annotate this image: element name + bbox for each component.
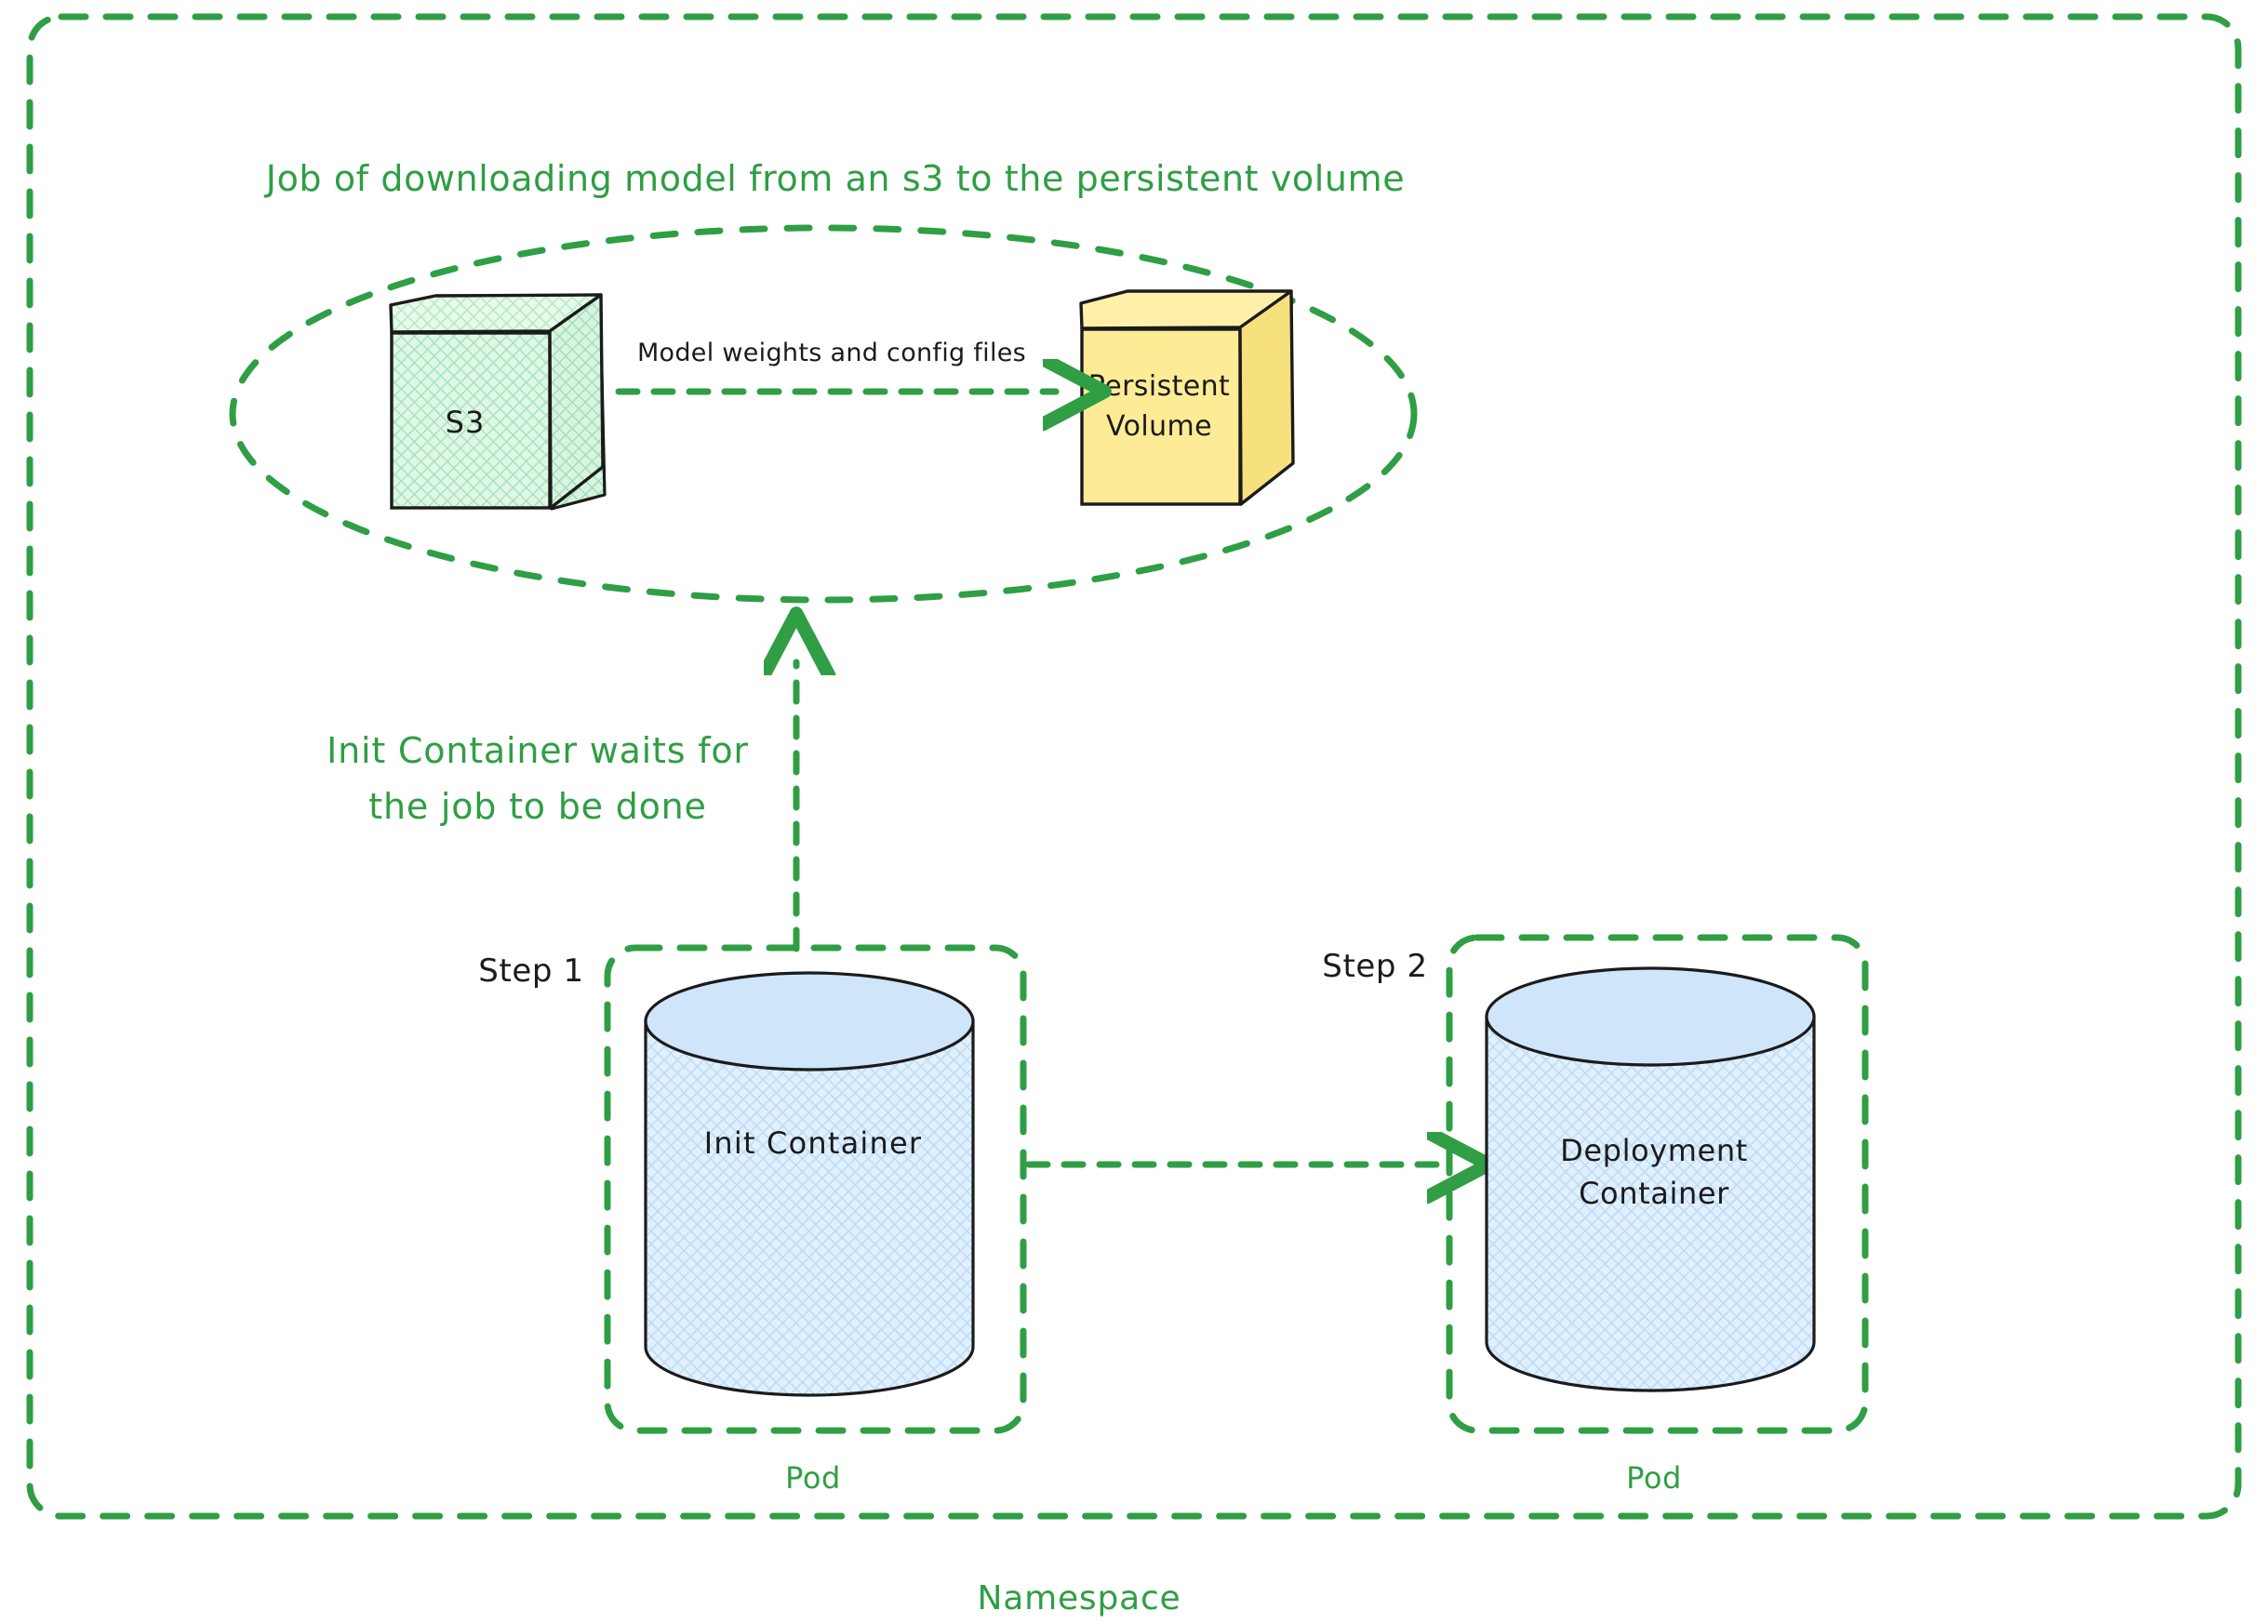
- init-container-label: Init Container: [704, 1125, 923, 1161]
- persistent-volume-label-line1: Persistent: [1088, 370, 1230, 403]
- pod-2-label: Pod: [1626, 1460, 1682, 1496]
- persistent-volume-cube: Persistent Volume: [1081, 291, 1293, 504]
- pod-step-2: Step 2 Deployment Container Pod: [1322, 938, 1865, 1496]
- init-container-cylinder: Init Container: [646, 973, 973, 1395]
- deployment-container-label-line1: Deployment: [1560, 1133, 1748, 1168]
- namespace-label: Namespace: [977, 1579, 1181, 1617]
- pod-step-1: Step 1 Init Container Pod: [478, 948, 1023, 1496]
- init-wait-note-line1: Init Container waits for: [327, 730, 749, 771]
- init-wait-note-line2: the job to be done: [368, 786, 707, 827]
- deployment-container-label-line2: Container: [1579, 1176, 1729, 1211]
- diagram-canvas: Job of downloading model from an s3 to t…: [0, 0, 2268, 1624]
- pod-1-step-label: Step 1: [478, 952, 583, 990]
- job-group-title: Job of downloading model from an s3 to t…: [264, 158, 1405, 199]
- s3-cube: S3: [391, 295, 605, 509]
- s3-cube-label: S3: [446, 405, 486, 440]
- architecture-diagram: Job of downloading model from an s3 to t…: [0, 0, 2268, 1624]
- deployment-container-cylinder: Deployment Container: [1487, 968, 1814, 1391]
- model-transfer-arrow-label: Model weights and config files: [637, 339, 1026, 367]
- model-transfer-arrow: Model weights and config files: [619, 339, 1056, 392]
- pod-1-label: Pod: [785, 1460, 841, 1496]
- pod-2-step-label: Step 2: [1322, 948, 1427, 985]
- persistent-volume-label-line2: Volume: [1106, 410, 1212, 443]
